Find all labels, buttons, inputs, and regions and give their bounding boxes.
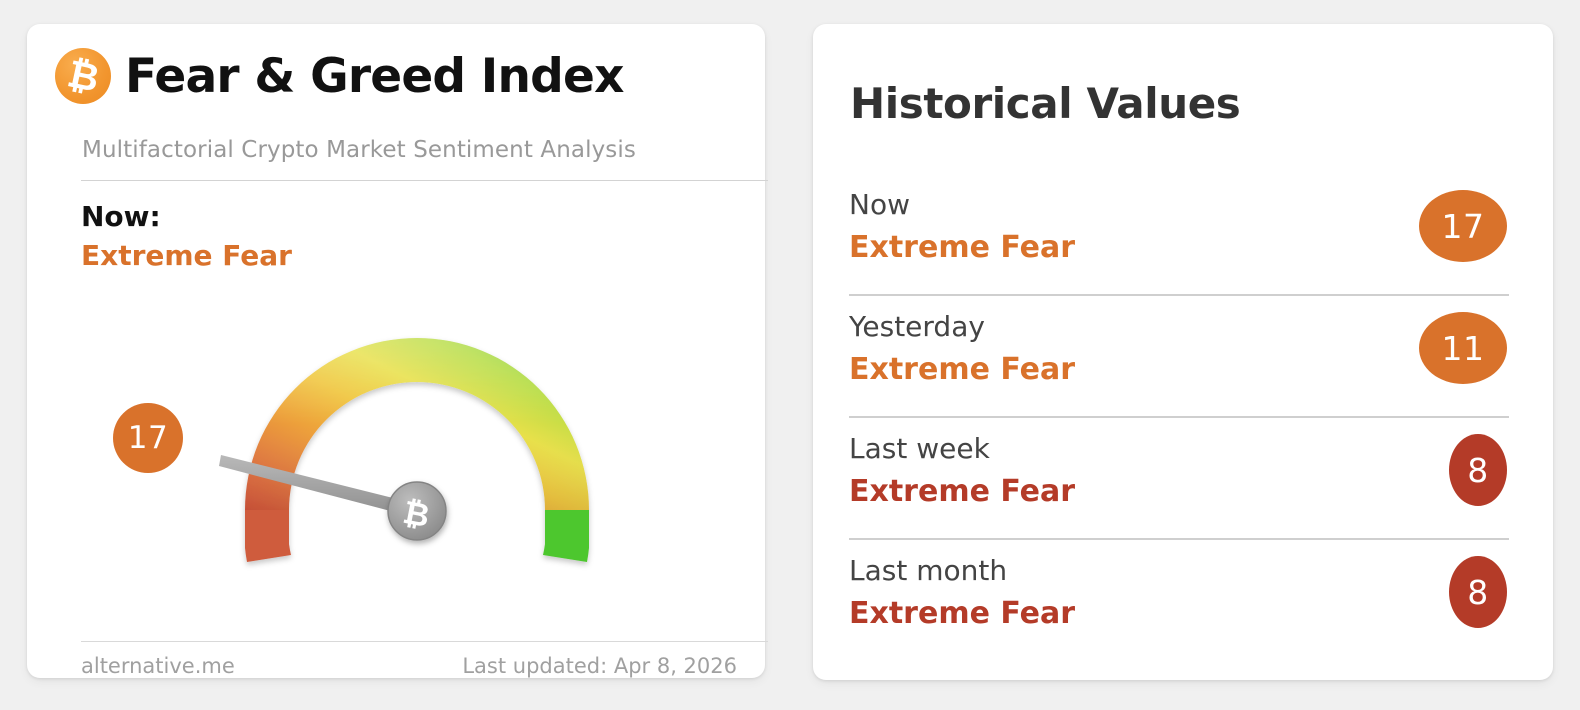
historical-values-card: Historical Values Now Extreme Fear 17 Ye… [813, 24, 1553, 680]
history-rating: Extreme Fear [849, 596, 1075, 631]
history-period: Now [849, 188, 910, 221]
page-title: Fear & Greed Index [125, 49, 624, 104]
history-rating: Extreme Fear [849, 352, 1075, 387]
history-value-badge: 8 [1449, 556, 1507, 628]
list-item[interactable]: Last month Extreme Fear 8 [849, 540, 1509, 662]
gauge-value-badge: 17 [113, 403, 183, 473]
last-updated-text: Last updated: Apr 8, 2026 [462, 654, 737, 678]
fear-greed-gauge-card: ₿ Fear & Greed Index Multifactorial Cryp… [27, 24, 765, 678]
history-period: Last week [849, 432, 990, 465]
page-root: ₿ Fear & Greed Index Multifactorial Cryp… [0, 0, 1580, 710]
bitcoin-glyph: ₿ [64, 54, 102, 98]
gauge-chart: ₿ [137, 272, 697, 612]
gauge-svg: ₿ [137, 272, 697, 612]
history-period: Last month [849, 554, 1007, 587]
now-label: Now: [81, 200, 161, 233]
list-item[interactable]: Now Extreme Fear 17 [849, 174, 1509, 296]
history-rating: Extreme Fear [849, 474, 1075, 509]
source-link[interactable]: alternative.me [81, 654, 235, 678]
history-rating: Extreme Fear [849, 230, 1075, 265]
history-value-badge: 17 [1419, 190, 1507, 262]
history-value-badge: 11 [1419, 312, 1507, 384]
now-value: Extreme Fear [81, 239, 292, 272]
page-subtitle: Multifactorial Crypto Market Sentiment A… [82, 137, 636, 163]
list-item[interactable]: Last week Extreme Fear 8 [849, 418, 1509, 540]
history-value-badge: 8 [1449, 434, 1507, 506]
historical-values-title: Historical Values [850, 79, 1240, 128]
history-period: Yesterday [849, 310, 985, 343]
bitcoin-icon: ₿ [55, 48, 111, 104]
list-item[interactable]: Yesterday Extreme Fear 11 [849, 296, 1509, 418]
footer-divider [81, 641, 768, 642]
header-divider [81, 180, 768, 181]
historical-values-list: Now Extreme Fear 17 Yesterday Extreme Fe… [849, 174, 1509, 662]
gauge-hub: ₿ [388, 482, 446, 540]
gauge-card-header: ₿ Fear & Greed Index [55, 48, 624, 104]
